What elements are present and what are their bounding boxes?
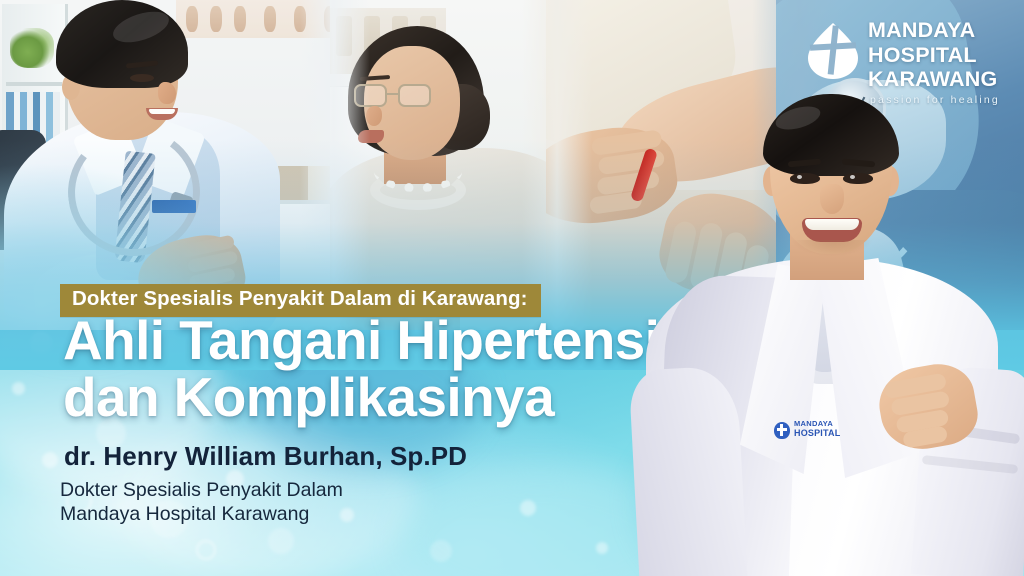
doctor-meta: Dokter Spesialis Penyakit Dalam Mandaya …	[60, 479, 343, 527]
doctor-specialty: Dokter Spesialis Penyakit Dalam	[60, 479, 343, 503]
coat-badge-line-1: MANDAYA	[794, 420, 833, 428]
featured-doctor-portrait: MANDAYA HOSPITAL	[622, 68, 1024, 576]
brand-name-line-2: HOSPITAL	[868, 45, 997, 67]
brand-name-line-3: KARAWANG	[868, 69, 997, 91]
doctor-hospital: Mandaya Hospital Karawang	[60, 503, 343, 527]
brand-name-line-1: MANDAYA	[868, 20, 997, 42]
brand-logo: MANDAYA HOSPITAL KARAWANG passion for he…	[806, 18, 1006, 104]
doctor-name: dr. Henry William Burhan, Sp.PD	[64, 441, 467, 472]
mandaya-mark-icon	[774, 422, 790, 439]
mandaya-cross-droplet-icon	[806, 22, 860, 80]
coat-badge: MANDAYA HOSPITAL	[774, 418, 850, 444]
brand-name: MANDAYA HOSPITAL KARAWANG	[868, 20, 997, 91]
brand-tagline: passion for healing	[870, 94, 1000, 106]
hypertension-specialist-banner: Dokter Spesialis Penyakit Dalam di Karaw…	[0, 0, 1024, 576]
coat-badge-line-2: HOSPITAL	[794, 429, 840, 438]
